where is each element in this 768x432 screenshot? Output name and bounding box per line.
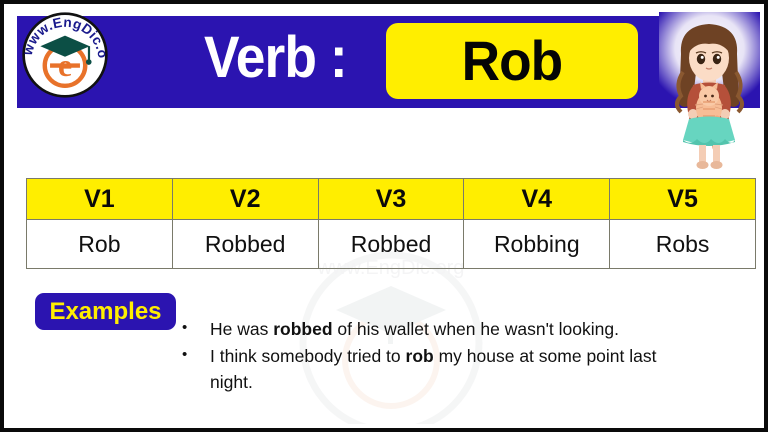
table-header-v1: V1 — [27, 179, 173, 220]
part-of-speech-label: Verb : — [204, 22, 347, 94]
table-row: Rob Robbed Robbed Robbing Robs — [27, 220, 756, 269]
example-1-before: He was — [210, 319, 273, 339]
table-cell-v1: Rob — [27, 220, 173, 269]
table-cell-v5: Robs — [610, 220, 756, 269]
table-header-v5: V5 — [610, 179, 756, 220]
table-cell-v4: Robbing — [464, 220, 610, 269]
verb-flashcard-page: www.EngDic.org www.EngDic.org e Verb : R… — [0, 0, 768, 432]
girl-holding-cat-illustration — [659, 12, 760, 173]
engdic-logo[interactable]: www.EngDic.org e — [21, 11, 109, 99]
word-box: Rob — [386, 23, 638, 99]
table-header-v4: V4 — [464, 179, 610, 220]
verb-forms-table: V1 V2 V3 V4 V5 Rob Robbed Robbed Robbing… — [26, 178, 756, 269]
table-header-v2: V2 — [172, 179, 318, 220]
table-cell-v2: Robbed — [172, 220, 318, 269]
table-header-v3: V3 — [318, 179, 464, 220]
example-1-bold: robbed — [273, 319, 332, 339]
table-cell-v3: Robbed — [318, 220, 464, 269]
table-header-row: V1 V2 V3 V4 V5 — [27, 179, 756, 220]
examples-list: He was robbed of his wallet when he wasn… — [176, 316, 676, 396]
example-1-after: of his wallet when he wasn't looking. — [333, 319, 619, 339]
example-2-bold: rob — [406, 346, 434, 366]
list-item: He was robbed of his wallet when he wasn… — [176, 316, 676, 342]
card-inner: www.EngDic.org www.EngDic.org e Verb : R… — [8, 8, 760, 424]
examples-badge: Examples — [35, 293, 176, 330]
meaning-row — [17, 112, 740, 172]
word-text: Rob — [462, 33, 563, 89]
example-2-before: I think somebody tried to — [210, 346, 406, 366]
list-item: I think somebody tried to rob my house a… — [176, 343, 676, 395]
